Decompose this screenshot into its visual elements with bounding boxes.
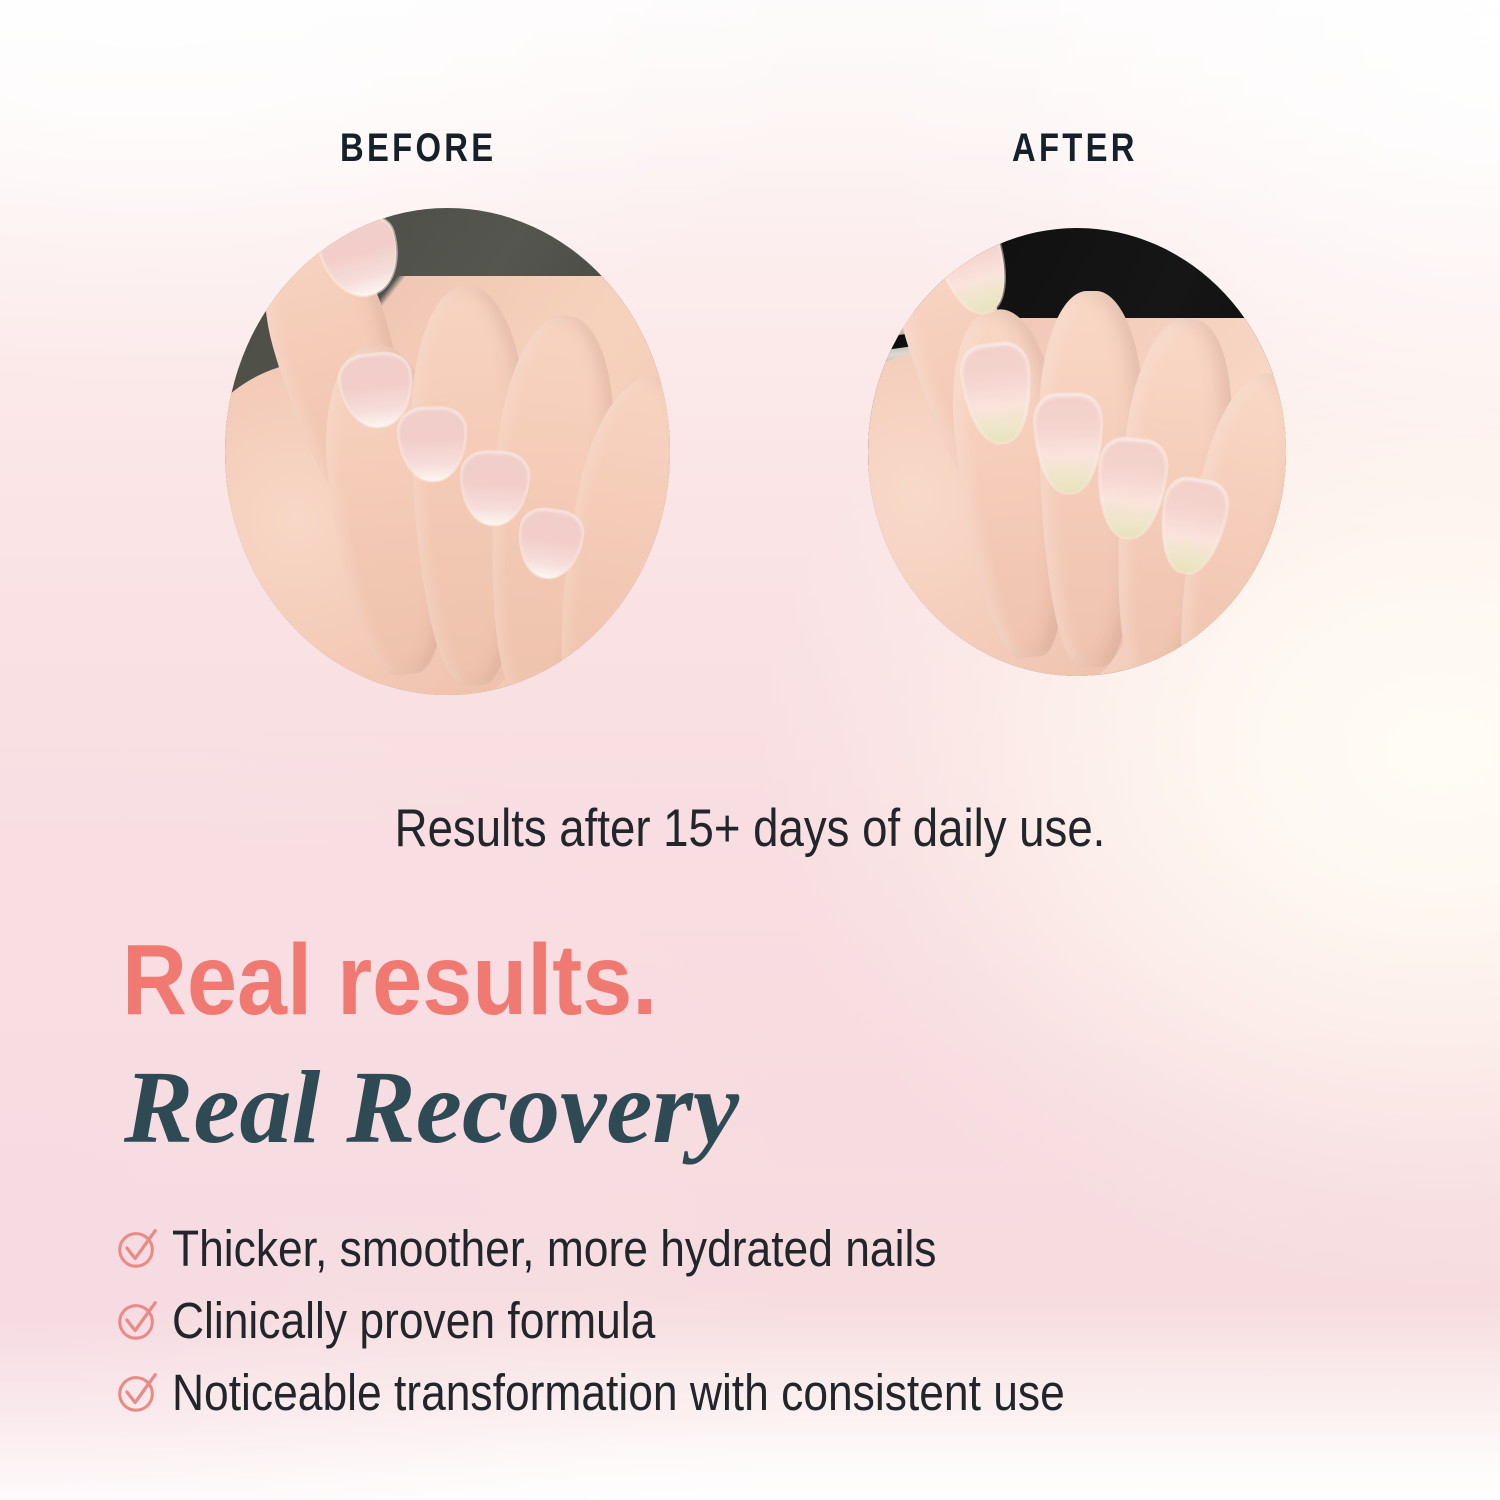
headline-real-recovery: Real Recovery xyxy=(124,1056,739,1160)
before-label: BEFORE xyxy=(340,126,496,171)
list-item: Clinically proven formula xyxy=(114,1284,1444,1356)
after-nails-photo xyxy=(868,228,1286,676)
list-item: Thicker, smoother, more hydrated nails xyxy=(114,1212,1444,1284)
benefits-list: Thicker, smoother, more hydrated nails C… xyxy=(114,1212,1444,1428)
check-circle-icon xyxy=(114,1369,160,1415)
benefit-label: Thicker, smoother, more hydrated nails xyxy=(172,1219,936,1278)
list-item: Noticeable transformation with consisten… xyxy=(114,1356,1444,1428)
before-nails-photo xyxy=(225,208,670,695)
check-circle-icon xyxy=(114,1297,160,1343)
headline-real-results: Real results. xyxy=(122,930,657,1030)
check-circle-icon xyxy=(114,1225,160,1271)
benefit-label: Clinically proven formula xyxy=(172,1291,655,1350)
after-label: AFTER xyxy=(1012,126,1138,171)
results-caption: Results after 15+ days of daily use. xyxy=(105,798,1395,859)
product-results-banner: BEFORE AFTER xyxy=(0,0,1500,1500)
benefit-label: Noticeable transformation with consisten… xyxy=(172,1363,1065,1422)
